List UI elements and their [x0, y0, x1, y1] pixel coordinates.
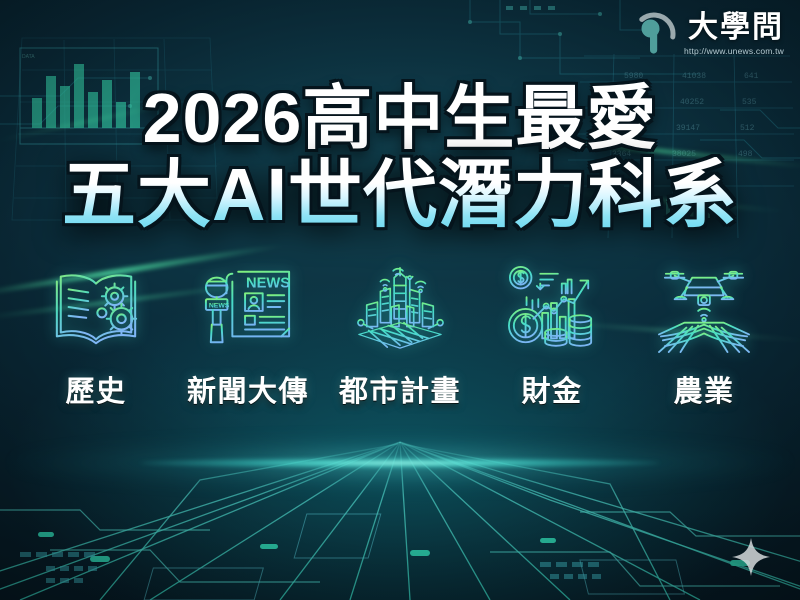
brand-url: http://www.unews.com.tw	[684, 46, 784, 56]
department-label: 新聞大傳	[187, 368, 309, 410]
brand-name: 大學問	[688, 13, 784, 43]
department-item-agriculture[interactable]: 農業	[634, 262, 774, 410]
department-item-finance[interactable]: 財金	[482, 262, 622, 410]
department-item-urban-planning[interactable]: 都市計畫	[330, 262, 470, 410]
poster-canvas: DATA 598041038641 192340252535 775139147…	[0, 0, 800, 600]
department-label: 農業	[673, 368, 734, 410]
department-item-history[interactable]: 歷史	[26, 262, 166, 410]
svg-text:DATA: DATA	[22, 54, 35, 60]
circuit-board-floor	[0, 440, 800, 600]
department-label: 財金	[521, 368, 582, 410]
svg-text:641: 641	[744, 72, 759, 81]
svg-text:41038: 41038	[682, 72, 706, 81]
microphone-newspaper-icon: NEWS NEWS	[199, 262, 297, 354]
circle-q-logo-icon	[632, 12, 676, 56]
department-label: 歷史	[65, 368, 126, 410]
page-title: 2026高中生最愛 五大AI世代潛力科系	[0, 82, 800, 234]
drone-farmland-icon	[655, 262, 753, 354]
brand-logo[interactable]: 大學問 http://www.unews.com.tw	[632, 12, 784, 56]
microphone-news-text: NEWS	[209, 303, 230, 310]
open-book-with-gears-icon	[47, 262, 145, 354]
department-list: 歷史 NEWS	[0, 262, 800, 410]
smart-city-skyline-icon	[351, 262, 449, 354]
newspaper-headline-text: NEWS	[246, 275, 290, 291]
horizon-glow-line	[140, 458, 660, 468]
horizon-glow-wide	[10, 440, 790, 486]
title-line-1: 2026高中生最愛	[0, 82, 800, 155]
department-item-journalism[interactable]: NEWS NEWS 新聞大傳	[178, 262, 318, 410]
coins-growth-chart-icon	[503, 262, 601, 354]
department-label: 都市計畫	[339, 368, 461, 410]
title-line-2: 五大AI世代潛力科系	[0, 157, 800, 234]
four-point-star-icon	[732, 538, 770, 576]
